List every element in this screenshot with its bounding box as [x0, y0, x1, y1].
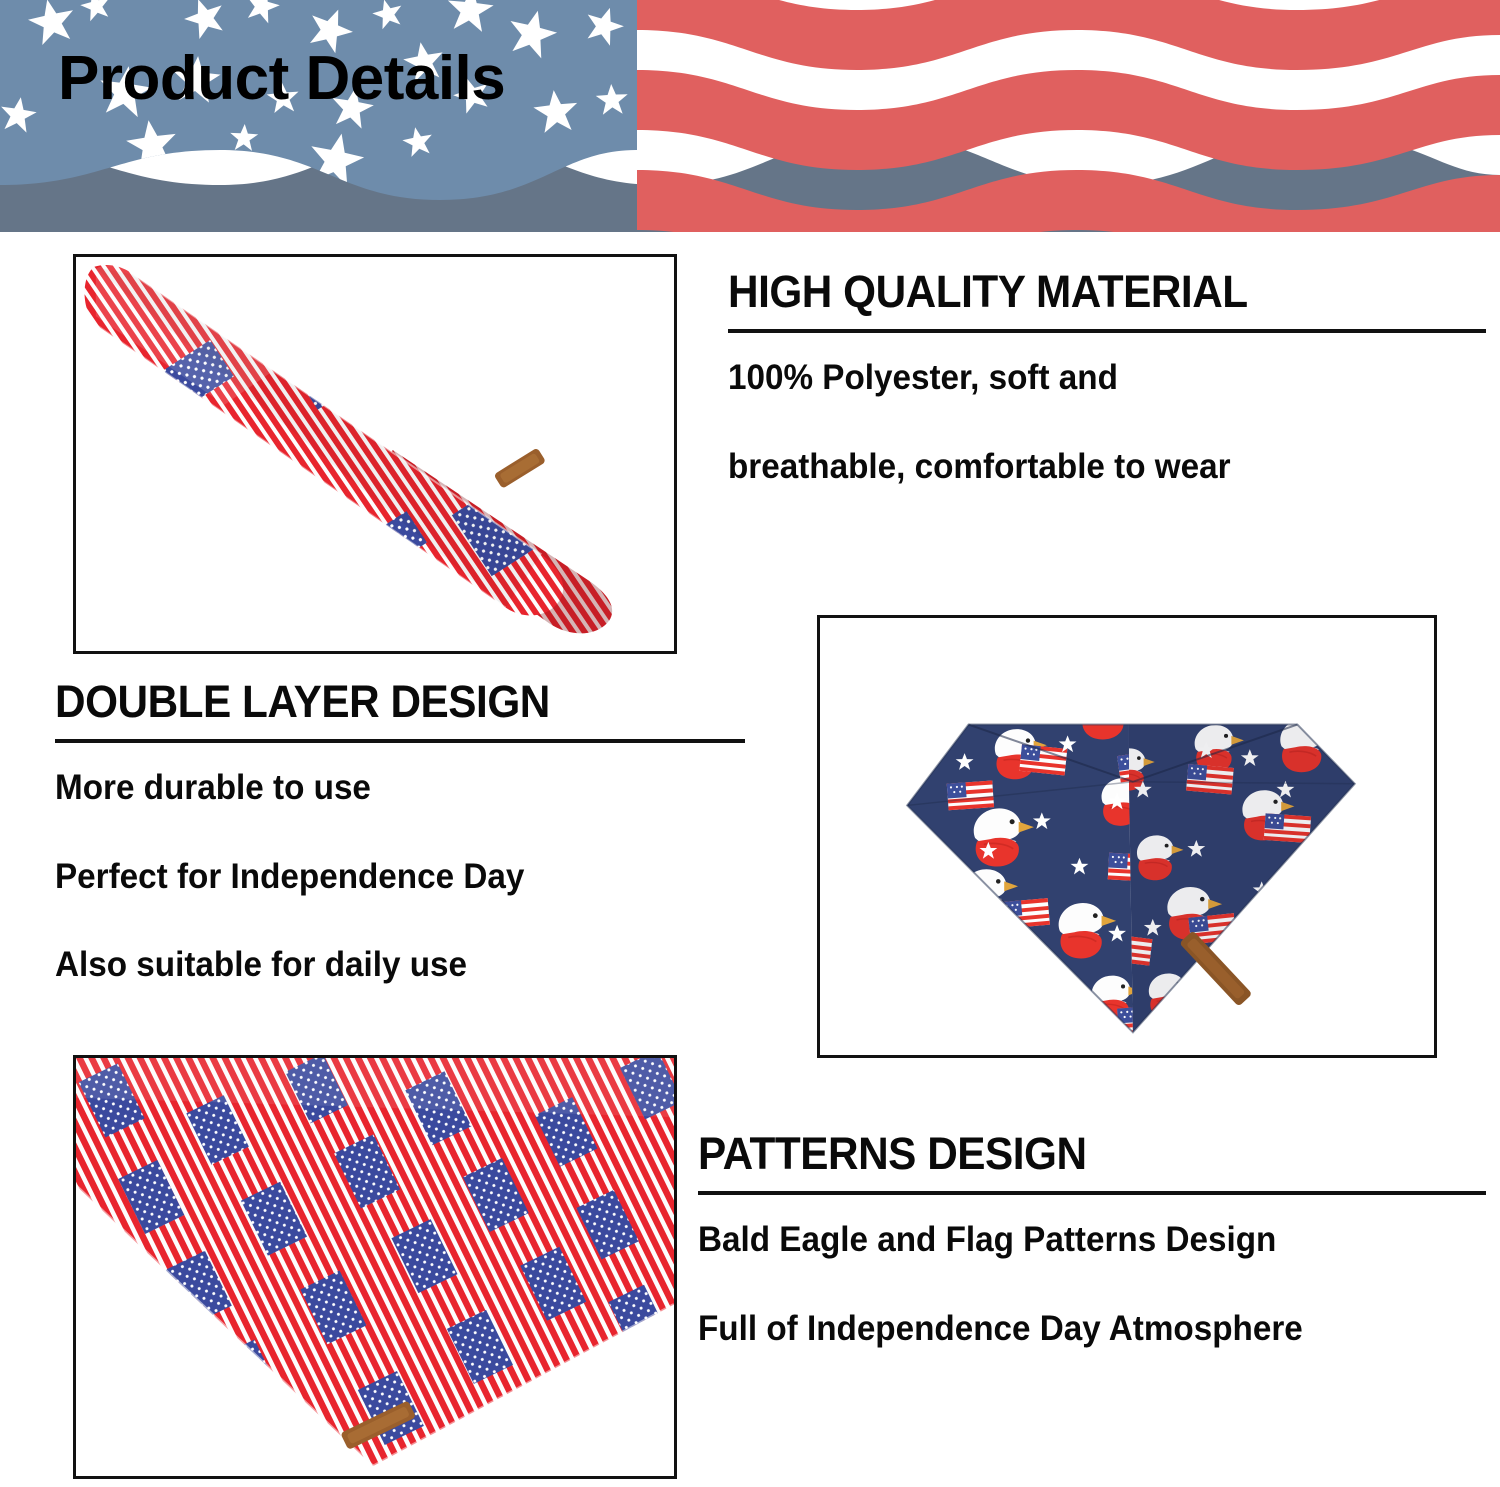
page-title: Product Details — [58, 48, 505, 110]
feature-block-material: HIGH QUALITY MATERIAL 100% Polyester, so… — [728, 268, 1488, 486]
feature-heading-double-layer: DOUBLE LAYER DESIGN — [55, 678, 704, 725]
feature-block-double-layer: DOUBLE LAYER DESIGN More durable to use … — [55, 678, 745, 985]
feature-line: breathable, comfortable to wear — [728, 448, 1450, 487]
product-photo-eagle-bandana — [817, 615, 1437, 1058]
feature-line: Also suitable for daily use — [55, 946, 711, 985]
feature-line: Full of Independence Day Atmosphere — [698, 1310, 1449, 1349]
feature-block-patterns: PATTERNS DESIGN Bald Eagle and Flag Patt… — [698, 1130, 1488, 1348]
feature-divider — [698, 1191, 1486, 1195]
feature-line: More durable to use — [55, 769, 711, 808]
feature-body-patterns: Bald Eagle and Flag Patterns Design Full… — [698, 1221, 1488, 1348]
feature-line: 100% Polyester, soft and — [728, 359, 1450, 398]
feature-heading-material: HIGH QUALITY MATERIAL — [728, 268, 1442, 315]
feature-divider — [728, 329, 1486, 333]
feature-body-material: 100% Polyester, soft and breathable, com… — [728, 359, 1488, 486]
product-details-page: Product Details — [0, 0, 1500, 1487]
feature-heading-patterns: PATTERNS DESIGN — [698, 1130, 1441, 1177]
product-photo-rolled-bandana — [73, 254, 677, 654]
feature-body-double-layer: More durable to use Perfect for Independ… — [55, 769, 745, 985]
feature-line: Perfect for Independence Day — [55, 858, 711, 897]
feature-line: Bald Eagle and Flag Patterns Design — [698, 1221, 1449, 1260]
product-photo-flag-bandana — [73, 1055, 677, 1479]
header-flag-banner: Product Details — [0, 0, 1500, 232]
feature-divider — [55, 739, 745, 743]
